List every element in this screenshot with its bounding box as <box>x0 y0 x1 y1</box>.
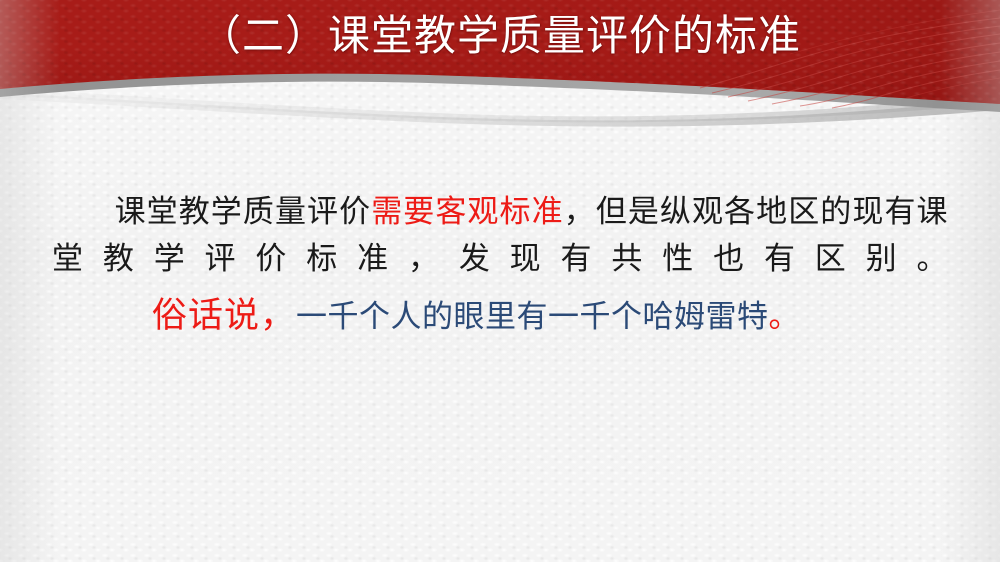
header-banner: （二）课堂教学质量评价的标准 <box>0 0 1000 130</box>
quote-period-red: 。 <box>769 299 800 334</box>
paragraph-segment-1: 课堂教学质量评价 <box>114 194 371 229</box>
quote-lead-red: 俗话说， <box>152 296 296 335</box>
slide-title: （二）课堂教学质量评价的标准 <box>0 9 1000 65</box>
body-paragraph: 课堂教学质量评价需要客观标准，但是纵观各地区的现有课堂教学评价标准，发现有共性也… <box>52 188 948 282</box>
slide-body: 课堂教学质量评价需要客观标准，但是纵观各地区的现有课堂教学评价标准，发现有共性也… <box>52 188 948 348</box>
quote-text-blue: 一千个人的眼里有一千个哈姆雷特 <box>296 299 769 334</box>
paragraph-highlight-red: 需要客观标准 <box>371 194 563 229</box>
slide-canvas: （二）课堂教学质量评价的标准 课堂教学质量评价需要客观标准，但是纵观各地区的现有… <box>0 0 1000 562</box>
quote-line: 俗话说，一千个人的眼里有一千个哈姆雷特。 <box>52 291 948 348</box>
